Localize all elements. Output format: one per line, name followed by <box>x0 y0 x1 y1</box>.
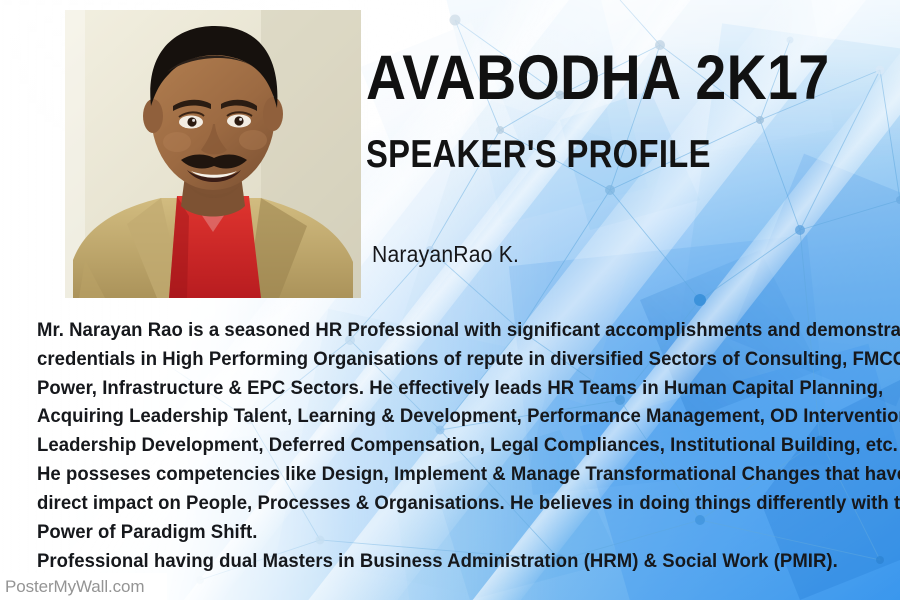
bio-closing-line: Professional having dual Masters in Busi… <box>37 547 835 576</box>
bio-line: Mr. Narayan Rao is a seasoned HR Profess… <box>37 316 835 345</box>
speaker-bio: Mr. Narayan Rao is a seasoned HR Profess… <box>37 316 877 576</box>
speaker-name: NarayanRao K. <box>372 241 519 268</box>
poster-subtitle: SPEAKER'S PROFILE <box>366 135 809 174</box>
speaker-photo <box>65 10 361 298</box>
speaker-profile-poster: AVABODHA 2K17 SPEAKER'S PROFILE NarayanR… <box>0 0 900 600</box>
bio-line: Power of Paradigm Shift. <box>37 518 835 547</box>
bio-line: Acquiring Leadership Talent, Learning & … <box>37 402 835 431</box>
bio-line: direct impact on People, Processes & Org… <box>37 489 835 518</box>
bio-line: He posseses competencies like Design, Im… <box>37 460 835 489</box>
bio-line: credentials in High Performing Organisat… <box>37 345 835 374</box>
watermark-text: PosterMyWall.com <box>0 577 144 597</box>
bio-line: Power, Infrastructure & EPC Sectors. He … <box>37 374 835 403</box>
bio-line: Leadership Development, Deferred Compens… <box>37 431 835 460</box>
poster-title: AVABODHA 2K17 <box>366 48 830 108</box>
watermark-bar: PosterMyWall.com <box>0 573 167 600</box>
header-block: AVABODHA 2K17 SPEAKER'S PROFILE <box>366 48 893 174</box>
